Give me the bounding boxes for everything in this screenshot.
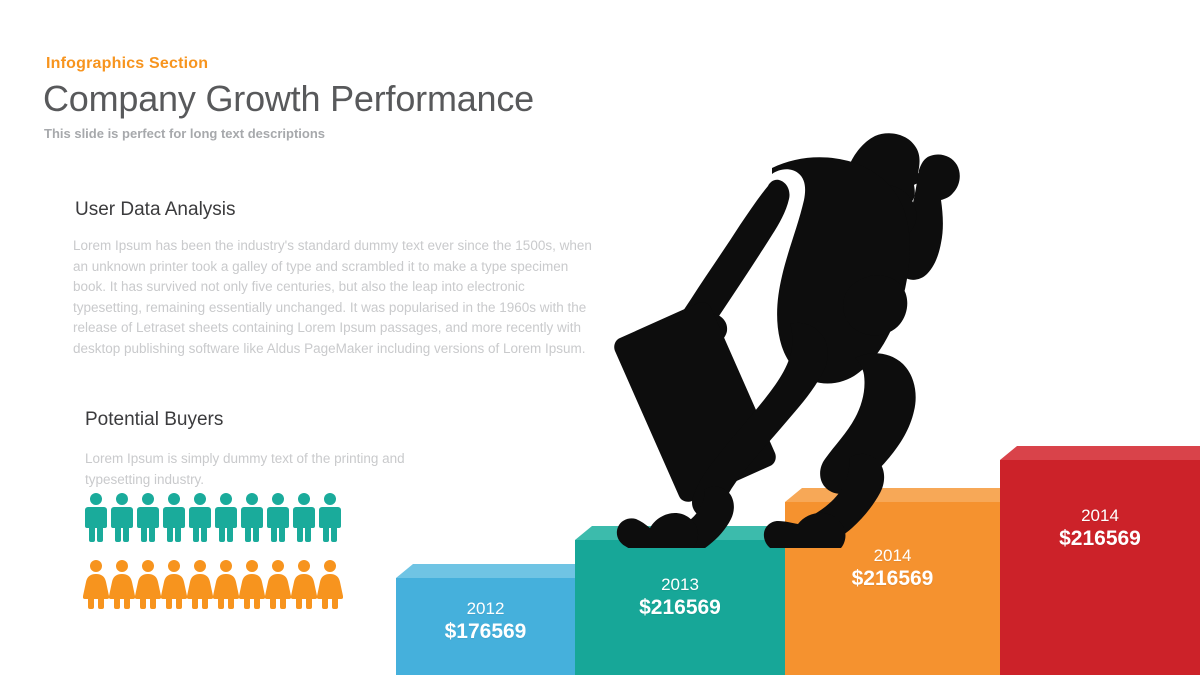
person-male-icon (317, 492, 343, 542)
page-title: Company Growth Performance (43, 78, 534, 120)
person-male-icon (135, 492, 161, 542)
person-female-icon (291, 559, 317, 609)
bar-value-2013: $216569 (575, 595, 785, 620)
person-female-icon (161, 559, 187, 609)
bar-label-2012: 2012 $176569 (396, 598, 575, 644)
bar-year-2014-red: 2014 (1000, 505, 1200, 526)
running-businessman-silhouette-icon (612, 128, 992, 548)
slide-canvas: Infographics Section Company Growth Perf… (0, 0, 1200, 675)
person-female-icon (83, 559, 109, 609)
section-body-user-data-analysis: Lorem Ipsum has been the industry's stan… (73, 236, 595, 360)
section-body-potential-buyers: Lorem Ipsum is simply dummy text of the … (85, 449, 425, 490)
person-male-icon (161, 492, 187, 542)
person-male-icon (109, 492, 135, 542)
bar-value-2012: $176569 (396, 619, 575, 644)
person-female-icon (109, 559, 135, 609)
pictogram-row-women (83, 559, 343, 609)
person-male-icon (265, 492, 291, 542)
page-subtitle: This slide is perfect for long text desc… (44, 126, 325, 141)
person-female-icon (265, 559, 291, 609)
bar-2014-red (1000, 446, 1200, 675)
person-female-icon (239, 559, 265, 609)
bar-year-2013: 2013 (575, 574, 785, 595)
person-male-icon (187, 492, 213, 542)
section-heading-potential-buyers: Potential Buyers (85, 409, 223, 431)
bar-year-2012: 2012 (396, 598, 575, 619)
person-male-icon (213, 492, 239, 542)
person-female-icon (135, 559, 161, 609)
bar-label-2014-red: 2014 $216569 (1000, 505, 1200, 551)
person-female-icon (317, 559, 343, 609)
bar-value-2014-orange: $216569 (785, 566, 1000, 591)
pictogram-row-men (83, 492, 343, 542)
person-male-icon (291, 492, 317, 542)
person-male-icon (239, 492, 265, 542)
bar-year-2014-orange: 2014 (785, 545, 1000, 566)
bar-value-2014-red: $216569 (1000, 526, 1200, 551)
eyebrow-label: Infographics Section (46, 55, 208, 73)
person-female-icon (187, 559, 213, 609)
person-female-icon (213, 559, 239, 609)
section-heading-user-data-analysis: User Data Analysis (75, 199, 236, 221)
person-male-icon (83, 492, 109, 542)
bar-label-2014-orange: 2014 $216569 (785, 545, 1000, 591)
bar-label-2013: 2013 $216569 (575, 574, 785, 620)
